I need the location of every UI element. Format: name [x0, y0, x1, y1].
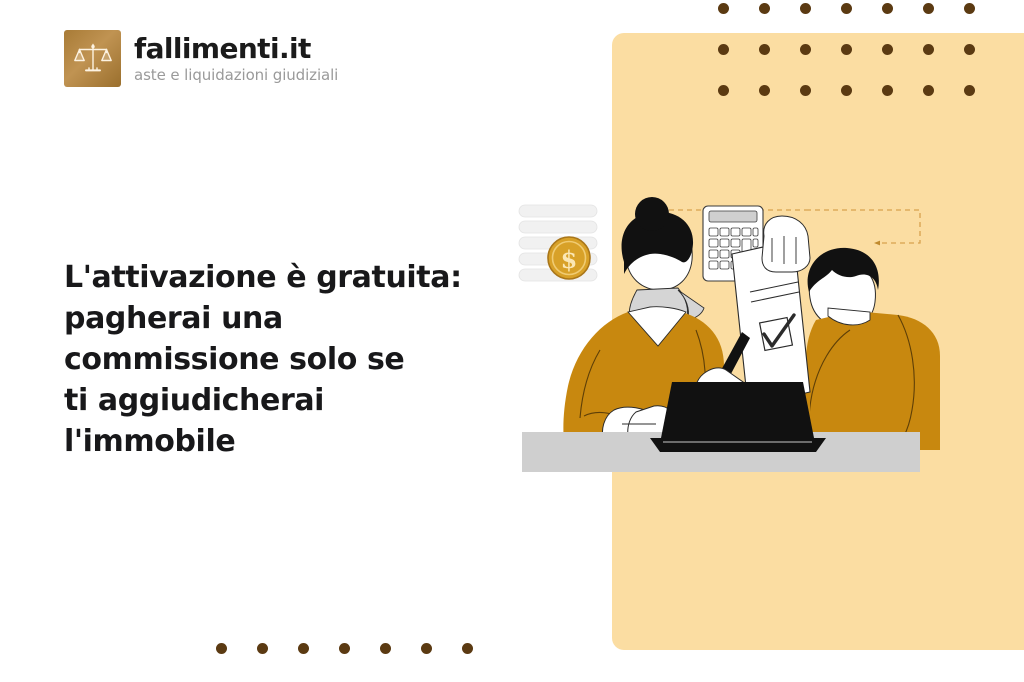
dot-cell: [841, 70, 882, 111]
dollar-coin-icon: $: [548, 237, 590, 279]
dot-cell: [257, 669, 298, 682]
dot-cell: [421, 628, 462, 669]
dot-cell: [216, 669, 257, 682]
decorative-dot: [759, 85, 770, 96]
decorative-dot: [882, 85, 893, 96]
dot-cell: [421, 669, 462, 682]
dot-cell: [216, 628, 257, 669]
dot-cell: [718, 70, 759, 111]
decorative-dot: [964, 44, 975, 55]
dot-cell: [759, 70, 800, 111]
dot-cell: [339, 628, 380, 669]
headline: L'attivazione è gratuita: pagherai una c…: [64, 257, 484, 462]
decorative-dot: [718, 85, 729, 96]
decorative-dot: [841, 3, 852, 14]
dot-cell: [718, 29, 759, 70]
brand-text: fallimenti.it aste e liquidazioni giudiz…: [134, 35, 338, 83]
decorative-dot: [257, 643, 268, 654]
dot-cell: [923, 70, 964, 111]
decorative-dot: [298, 643, 309, 654]
decorative-dot: [964, 85, 975, 96]
dot-cell: [923, 29, 964, 70]
svg-text:$: $: [561, 245, 578, 274]
decorative-dot: [882, 3, 893, 14]
brand-title: fallimenti.it: [134, 35, 338, 63]
dot-cell: [923, 0, 964, 29]
decorative-dot: [800, 44, 811, 55]
man-hand-on-document: [762, 216, 810, 272]
brand-subtitle: aste e liquidazioni giudiziali: [134, 68, 338, 83]
laptop-icon: [650, 382, 826, 452]
dot-cell: [759, 29, 800, 70]
dot-cell: [964, 0, 1005, 29]
dot-grid-top-right: [718, 0, 1005, 111]
dot-cell: [298, 628, 339, 669]
decorative-dot: [462, 643, 473, 654]
dot-cell: [462, 669, 503, 682]
decorative-dot: [759, 44, 770, 55]
dot-cell: [841, 0, 882, 29]
decorative-dot: [759, 3, 770, 14]
decorative-dot: [421, 643, 432, 654]
decorative-dot: [964, 3, 975, 14]
dot-cell: [964, 29, 1005, 70]
dot-cell: [882, 70, 923, 111]
decorative-dot: [800, 3, 811, 14]
decorative-dot: [882, 44, 893, 55]
dot-cell: [882, 29, 923, 70]
decorative-dot: [841, 85, 852, 96]
illustration: $: [510, 180, 940, 480]
dot-cell: [718, 0, 759, 29]
dot-cell: [298, 669, 339, 682]
decorative-dot: [718, 3, 729, 14]
dot-cell: [882, 0, 923, 29]
dot-cell: [462, 628, 503, 669]
decorative-dot: [923, 44, 934, 55]
dot-cell: [800, 0, 841, 29]
dot-cell: [800, 70, 841, 111]
decorative-dot: [800, 85, 811, 96]
brand-logo[interactable]: fallimenti.it aste e liquidazioni giudiz…: [64, 30, 338, 87]
dot-cell: [800, 29, 841, 70]
scales-of-justice-icon: [64, 30, 121, 87]
dot-cell: [257, 628, 298, 669]
dot-cell: [841, 29, 882, 70]
dot-cell: [380, 628, 421, 669]
decorative-dot: [923, 3, 934, 14]
dot-cell: [380, 669, 421, 682]
dot-cell: [964, 70, 1005, 111]
decorative-dot: [841, 44, 852, 55]
decorative-dot: [380, 643, 391, 654]
dot-cell: [759, 0, 800, 29]
decorative-dot: [339, 643, 350, 654]
decorative-dot: [923, 85, 934, 96]
decorative-dot: [216, 643, 227, 654]
promo-banner: fallimenti.it aste e liquidazioni giudiz…: [0, 0, 1024, 682]
dot-cell: [339, 669, 380, 682]
decorative-dot: [718, 44, 729, 55]
dot-grid-bottom-left: [216, 628, 503, 682]
